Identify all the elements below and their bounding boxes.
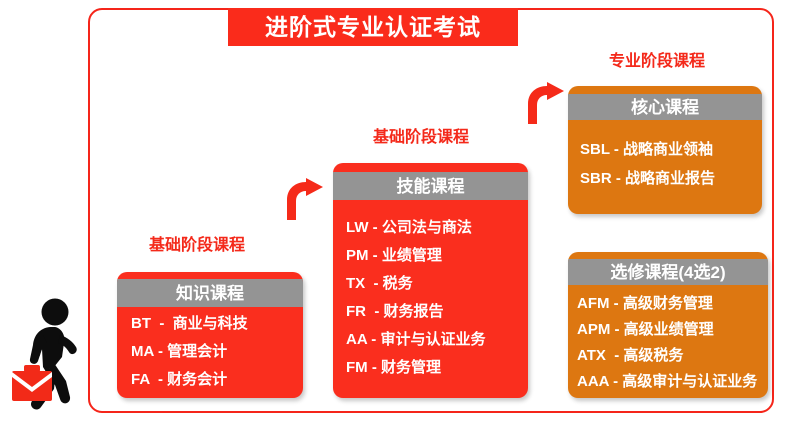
card-elective-courses[interactable]: 选修课程(4选2) AFM - 高级财务管理 APM - 高级业绩管理 ATX … [568,252,768,398]
card-core-courses[interactable]: 核心课程 SBL - 战略商业领袖 SBR - 战略商业报告 [568,86,762,214]
stage-label-professional: 专业阶段课程 [609,54,705,70]
card-knowledge-body: BT - 商业与科技 MA - 管理会计 FA - 财务会计 [117,307,303,398]
list-item: AFM - 高级财务管理 [577,296,768,311]
page-title: 进阶式专业认证考试 [265,16,481,39]
curved-arrow-up-right-icon [524,82,566,126]
stage-label-knowledge: 基础阶段课程 [149,238,245,254]
list-item: LW - 公司法与商法 [346,220,528,235]
list-item: MA - 管理会计 [131,344,303,359]
walking-businessperson-icon [10,297,88,415]
list-item: ATX - 高级税务 [577,348,768,363]
card-knowledge-courses[interactable]: 知识课程 BT - 商业与科技 MA - 管理会计 FA - 财务会计 [117,272,303,398]
card-core-body: SBL - 战略商业领袖 SBR - 战略商业报告 [568,120,762,208]
list-item: SBR - 战略商业报告 [580,171,762,186]
list-item: FR - 财务报告 [346,304,528,319]
list-item: FA - 财务会计 [131,372,303,387]
card-skills-header: 技能课程 [333,172,528,200]
card-skills-body: LW - 公司法与商法 PM - 业绩管理 TX - 税务 FR - 财务报告 … [333,200,528,396]
list-item: FM - 财务管理 [346,360,528,375]
card-elective-header: 选修课程(4选2) [568,259,768,285]
card-elective-body: AFM - 高级财务管理 APM - 高级业绩管理 ATX - 高级税务 AAA… [568,285,768,398]
card-skills-courses[interactable]: 技能课程 LW - 公司法与商法 PM - 业绩管理 TX - 税务 FR - … [333,163,528,398]
card-core-header: 核心课程 [568,94,762,120]
stage-label-skills: 基础阶段课程 [373,130,469,146]
list-item: PM - 业绩管理 [346,248,528,263]
list-item: AAA - 高级审计与认证业务 [577,374,768,389]
curved-arrow-up-right-icon [283,178,325,222]
list-item: APM - 高级业绩管理 [577,322,768,337]
diagram-title-banner: 进阶式专业认证考试 [228,8,518,46]
list-item: BT - 商业与科技 [131,316,303,331]
list-item: SBL - 战略商业领袖 [580,142,762,157]
card-knowledge-header: 知识课程 [117,279,303,307]
list-item: AA - 审计与认证业务 [346,332,528,347]
list-item: TX - 税务 [346,276,528,291]
